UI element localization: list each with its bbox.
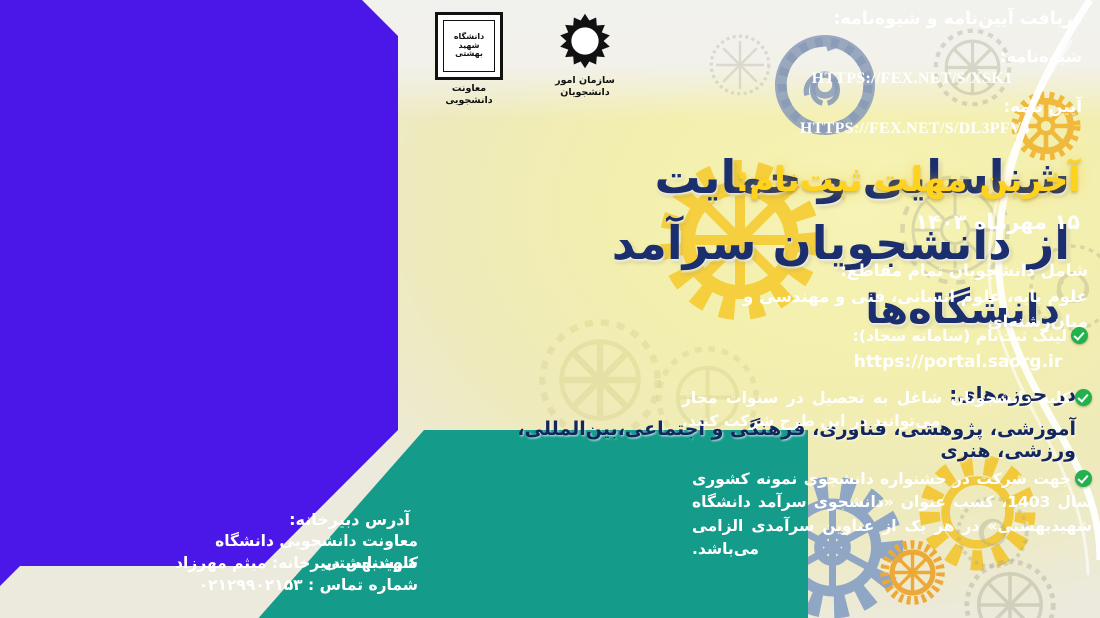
bullet-festival: جهت شرکت در جشنواره دانشجوی نمونه کشوری … <box>692 468 1092 561</box>
logo-sao-caption-line2: دانشجویان <box>530 87 640 99</box>
logo-group: دانشگاه شهید بهشتی معاونت دانشجویی سازما… <box>420 6 660 118</box>
logo-shahid-beheshti: دانشگاه شهید بهشتی معاونت دانشجویی <box>430 12 508 107</box>
logo-student-affairs: سازمان امور دانشجویان <box>530 10 640 99</box>
deadline-date: ۱۵ مهرماه ۱۴۰۳ <box>750 208 1080 236</box>
bullet-registration: لینک ثبت‌نام (سامانه سجاد): https://port… <box>828 325 1088 376</box>
scope-line1: شامل دانشجویان تمام مقاطع: <box>688 258 1088 284</box>
check-icon <box>1075 470 1092 487</box>
check-icon <box>1071 327 1088 344</box>
sbu-emblem-icon: دانشگاه شهید بهشتی <box>435 12 503 80</box>
bullet-festival-text: جهت شرکت در جشنواره دانشجوی نمونه کشوری … <box>692 470 1092 558</box>
doc2-url[interactable]: HTTPS://FEX.NET/S/DL3PFV4 <box>740 118 1090 140</box>
scope-block: شامل دانشجویان تمام مقاطع: علوم پایه، عل… <box>688 258 1088 335</box>
logo-sbu-caption: معاونت دانشجویی <box>430 83 508 107</box>
check-icon <box>1075 389 1092 406</box>
doc1-label: شیوه‌نامه: <box>752 46 1082 68</box>
logo-sao-caption: سازمان امور دانشجویان <box>530 75 640 99</box>
poster-root: دانشگاه شهید بهشتی معاونت دانشجویی سازما… <box>0 0 1100 618</box>
doc2-label: آیین نامه: <box>752 96 1082 118</box>
bullet-registration-text: لینک ثبت‌نام (سامانه سجاد): <box>853 327 1067 345</box>
sbu-emblem-text: دانشگاه شهید بهشتی <box>443 20 495 72</box>
secretariat-phone: شماره تماس : ۰۲۱۲۹۹۰۲۱۵۳ <box>118 574 418 596</box>
secretariat-title: آدرس دبیرخانه: <box>120 508 410 531</box>
secretariat-line2: کارشناس دبیرخانه: میثم مهرزاد <box>118 552 418 574</box>
download-header: دریافت آیین‌نامه و شیوه‌نامه: <box>752 8 1082 32</box>
deadline-label: آخرین مهلت ثبت‌نام: <box>720 158 1080 204</box>
bullet-eligibility: کلیه دانشجویان شاغل به تحصیل در سنوات مج… <box>682 387 1092 434</box>
registration-link[interactable]: https://portal.saorg.ir <box>828 350 1088 376</box>
logo-sao-caption-line1: سازمان امور <box>530 75 640 87</box>
sao-emblem-icon <box>549 10 621 72</box>
doc1-url[interactable]: HTTPS://FEX.NET/S/XSK1 <box>742 68 1082 90</box>
bullet-eligibility-text: کلیه دانشجویان شاغل به تحصیل در سنوات مج… <box>682 389 1071 430</box>
